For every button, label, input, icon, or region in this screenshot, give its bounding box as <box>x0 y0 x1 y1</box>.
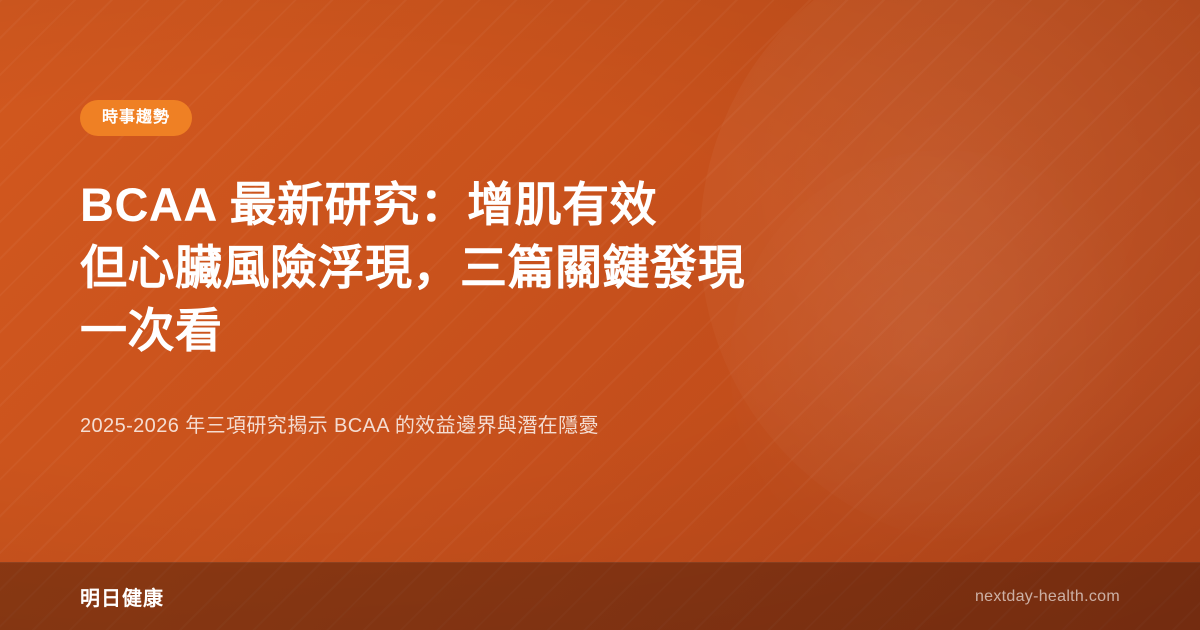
page-title: BCAA 最新研究：增肌有效 但心臟風險浮現，三篇關鍵發現 一次看 <box>80 174 840 363</box>
title-line-3: 一次看 <box>80 300 840 363</box>
brand-name: 明日健康 <box>80 582 164 611</box>
site-domain: nextday-health.com <box>975 588 1120 606</box>
title-line-2: 但心臟風險浮現，三篇關鍵發現 <box>80 237 840 300</box>
category-badge: 時事趨勢 <box>80 100 192 136</box>
card-content: 時事趨勢 BCAA 最新研究：增肌有效 但心臟風險浮現，三篇關鍵發現 一次看 2… <box>80 100 840 441</box>
page-subtitle: 2025-2026 年三項研究揭示 BCAA 的效益邊界與潛在隱憂 <box>80 411 840 441</box>
title-line-1: BCAA 最新研究：增肌有效 <box>80 174 840 237</box>
card-footer: 明日健康 nextday-health.com <box>0 562 1200 630</box>
social-share-card: 時事趨勢 BCAA 最新研究：增肌有效 但心臟風險浮現，三篇關鍵發現 一次看 2… <box>0 0 1200 630</box>
